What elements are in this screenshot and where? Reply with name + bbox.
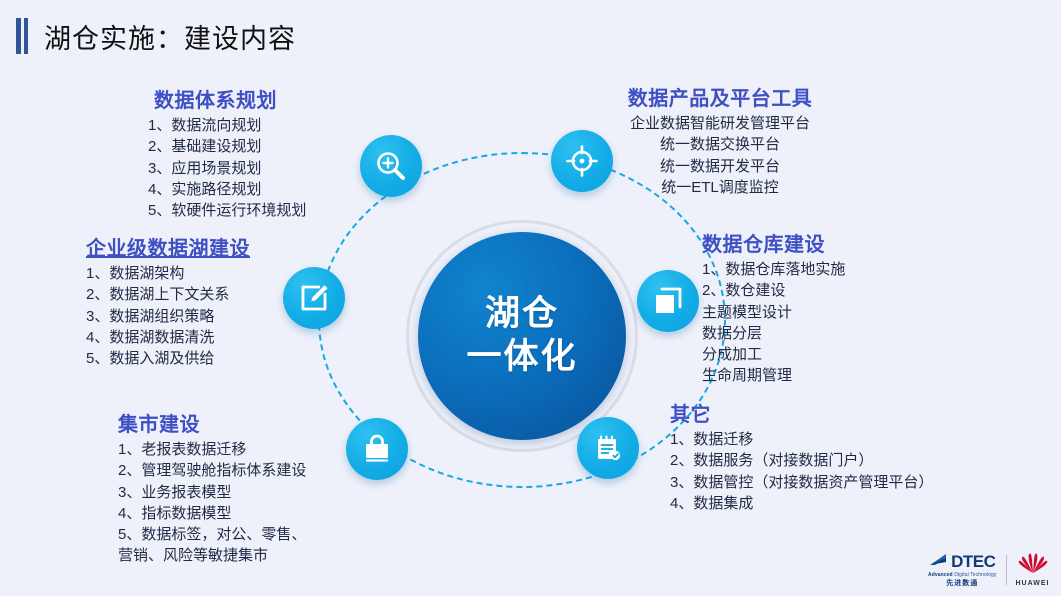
- dtec-chinese-name: 先进数通: [946, 580, 978, 587]
- huawei-wordmark: HUAWEI: [1016, 580, 1050, 587]
- list-item: 3、业务报表模型: [118, 482, 306, 503]
- page-title: 湖仓实施：建设内容: [16, 14, 296, 58]
- list-item: 3、数据管控（对接数据资产管理平台）: [670, 472, 933, 493]
- list-item: 生命周期管理: [702, 365, 845, 386]
- list-item: 统一数据交换平台: [600, 134, 840, 155]
- section-products-list: 企业数据智能研发管理平台 统一数据交换平台 统一数据开发平台 统一ETL调度监控: [600, 113, 840, 198]
- section-mart-heading: 集市建设: [118, 408, 306, 437]
- section-products-heading: 数据产品及平台工具: [600, 82, 840, 111]
- core-label-line2: 一体化: [466, 336, 577, 379]
- node-mart[interactable]: [346, 418, 408, 480]
- section-mart: 集市建设 1、老报表数据迁移 2、管理驾驶舱指标体系建设 3、业务报表模型 4、…: [118, 408, 306, 567]
- list-item: 2、管理驾驶舱指标体系建设: [118, 460, 306, 481]
- checklist-icon: [592, 432, 624, 464]
- node-datalake[interactable]: [283, 267, 345, 329]
- dtec-logo-row: DTEC: [929, 553, 995, 571]
- dtec-tagline-rest: Digital Technology: [954, 572, 996, 578]
- huawei-flower-icon: [1016, 552, 1050, 579]
- list-item: 1、数据迁移: [670, 429, 933, 450]
- title-accent-bar-icon: [16, 18, 28, 54]
- section-datalake: 企业级数据湖建设 1、数据湖架构 2、数据湖上下文关系 3、数据湖组织策略 4、…: [86, 232, 250, 369]
- copy-icon: [652, 285, 684, 317]
- dtec-logo: DTEC Advanced Digital Technology 先进数通: [928, 553, 997, 587]
- dtec-arrow-icon: [929, 553, 949, 571]
- list-item: 2、数据服务（对接数据门户）: [670, 450, 933, 471]
- list-item: 企业数据智能研发管理平台: [600, 113, 840, 134]
- huawei-logo: HUAWEI: [1016, 552, 1050, 587]
- list-item: 5、数据入湖及供给: [86, 348, 250, 369]
- target-icon: [565, 144, 599, 178]
- list-item: 2、基础建设规划: [148, 136, 306, 157]
- node-planning[interactable]: [360, 135, 422, 197]
- section-planning-list: 1、数据流向规划 2、基础建设规划 3、应用场景规划 4、实施路径规划 5、软硬…: [148, 115, 306, 221]
- section-warehouse: 数据仓库建设 1、数据仓库落地实施 2、数仓建设 主题模型设计 数据分层 分成加…: [702, 228, 845, 387]
- node-other[interactable]: [577, 417, 639, 479]
- list-item: 4、指标数据模型: [118, 503, 306, 524]
- list-item: 3、应用场景规划: [148, 158, 306, 179]
- core-circle: 湖仓 一体化: [418, 232, 626, 440]
- list-item: 5、数据标签，对公、零售、: [118, 524, 306, 545]
- dtec-tagline-bold: Advanced: [928, 572, 953, 578]
- list-item: 4、数据集成: [670, 493, 933, 514]
- node-warehouse[interactable]: [637, 270, 699, 332]
- section-other-list: 1、数据迁移 2、数据服务（对接数据门户） 3、数据管控（对接数据资产管理平台）…: [670, 429, 933, 514]
- list-item: 4、实施路径规划: [148, 179, 306, 200]
- section-datalake-heading: 企业级数据湖建设: [86, 232, 250, 261]
- list-item: 统一ETL调度监控: [600, 177, 840, 198]
- section-other: 其它 1、数据迁移 2、数据服务（对接数据门户） 3、数据管控（对接数据资产管理…: [670, 398, 933, 514]
- list-item: 3、数据湖组织策略: [86, 306, 250, 327]
- section-products: 数据产品及平台工具 企业数据智能研发管理平台 统一数据交换平台 统一数据开发平台…: [600, 82, 840, 198]
- section-datalake-list: 1、数据湖架构 2、数据湖上下文关系 3、数据湖组织策略 4、数据湖数据清洗 5…: [86, 263, 250, 369]
- list-item: 5、软硬件运行环境规划: [148, 200, 306, 221]
- section-warehouse-heading: 数据仓库建设: [702, 228, 845, 257]
- slide-canvas: 湖仓实施：建设内容 湖仓 一体化: [0, 0, 1061, 596]
- section-other-heading: 其它: [670, 398, 933, 427]
- section-warehouse-sublist: 主题模型设计 数据分层 分成加工 生命周期管理: [702, 302, 845, 387]
- list-item: 4、数据湖数据清洗: [86, 327, 250, 348]
- list-item: 分成加工: [702, 344, 845, 365]
- edit-icon: [298, 282, 330, 314]
- list-item: 数据分层: [702, 323, 845, 344]
- shopping-bag-icon: [361, 433, 393, 465]
- section-planning-heading: 数据体系规划: [154, 84, 306, 113]
- list-item: 主题模型设计: [702, 302, 845, 323]
- zoom-in-icon: [374, 149, 408, 183]
- section-mart-list: 1、老报表数据迁移 2、管理驾驶舱指标体系建设 3、业务报表模型 4、指标数据模…: [118, 439, 306, 545]
- list-item: 统一数据开发平台: [600, 156, 840, 177]
- page-title-text: 湖仓实施：建设内容: [44, 17, 296, 56]
- dtec-wordmark: DTEC: [951, 553, 995, 570]
- section-warehouse-list: 1、数据仓库落地实施 2、数仓建设: [702, 259, 845, 302]
- list-item: 1、数据仓库落地实施: [702, 259, 845, 280]
- footer-logos: DTEC Advanced Digital Technology 先进数通: [928, 552, 1050, 587]
- list-item: 1、数据湖架构: [86, 263, 250, 284]
- core-label-line1: 湖仓: [485, 293, 559, 336]
- list-item: 2、数仓建设: [702, 280, 845, 301]
- list-item: 1、老报表数据迁移: [118, 439, 306, 460]
- section-mart-wrap: 营销、风险等敏捷集市: [118, 545, 306, 566]
- dtec-tagline: Advanced Digital Technology: [928, 573, 997, 578]
- list-item: 营销、风险等敏捷集市: [118, 545, 306, 566]
- list-item: 1、数据流向规划: [148, 115, 306, 136]
- list-item: 2、数据湖上下文关系: [86, 284, 250, 305]
- footer-divider: [1006, 555, 1007, 585]
- section-planning: 数据体系规划 1、数据流向规划 2、基础建设规划 3、应用场景规划 4、实施路径…: [148, 84, 306, 221]
